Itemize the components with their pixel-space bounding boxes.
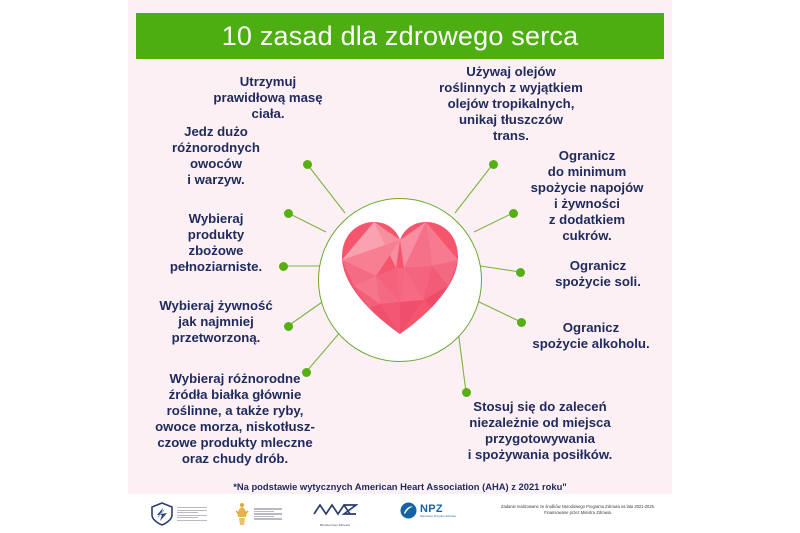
- tip-label-4: Wybieraj żywność jak najmniej przetworzo…: [150, 298, 282, 346]
- tip-dot-4: [284, 322, 293, 331]
- tip-dot-3: [279, 262, 288, 271]
- tip-dot-6: [489, 160, 498, 169]
- ministerstwo-zdrowia-label: Ministerstwo Zdrowia: [312, 523, 358, 527]
- nizp-pzh-logo: [150, 502, 207, 526]
- tip-label-8: Ogranicz spożycie soli.: [534, 258, 662, 290]
- tip-dot-10: [462, 388, 471, 397]
- npz-sublabel: Narodowy Program Zdrowia: [420, 515, 456, 518]
- infographic-canvas: 10 zasad dla zdrowego serca: [0, 0, 800, 533]
- heart-icon: [336, 216, 464, 336]
- funding-text: Zadanie realizowane ze środków Narodoweg…: [490, 504, 666, 517]
- npz-logo: NPZ Narodowy Program Zdrowia: [400, 502, 456, 519]
- tip-label-5: Wybieraj różnorodne źródła białka główni…: [140, 371, 330, 468]
- tip-dot-2: [284, 209, 293, 218]
- tip-label-6: Używaj olejów roślinnych z wyjątkiem ole…: [418, 64, 604, 144]
- footer-bar: Ministerstwo Zdrowia NPZ Narodowy Progra…: [128, 494, 672, 533]
- tip-dot-1: [303, 160, 312, 169]
- ministerstwo-zdrowia-logo: Ministerstwo Zdrowia: [312, 502, 358, 527]
- tip-label-1: Utrzymuj prawidłową masę ciała.: [202, 74, 334, 122]
- tip-dot-8: [516, 268, 525, 277]
- tip-label-9: Ogranicz spożycie alkoholu.: [520, 320, 662, 352]
- tip-label-3: Wybieraj produkty zbożowe pełnoziarniste…: [152, 211, 280, 275]
- tip-label-7: Ogranicz do minimum spożycie napojów i ż…: [514, 148, 660, 245]
- ministry-emblem-logo: [234, 502, 282, 526]
- npz-label: NPZ: [420, 503, 456, 515]
- tip-label-10: Stosuj się do zaleceń niezależnie od mie…: [440, 399, 640, 463]
- footnote: *Na podstawie wytycznych American Heart …: [128, 481, 672, 492]
- tip-label-2: Jedz dużo różnorodnych owoców i warzyw.: [152, 124, 280, 188]
